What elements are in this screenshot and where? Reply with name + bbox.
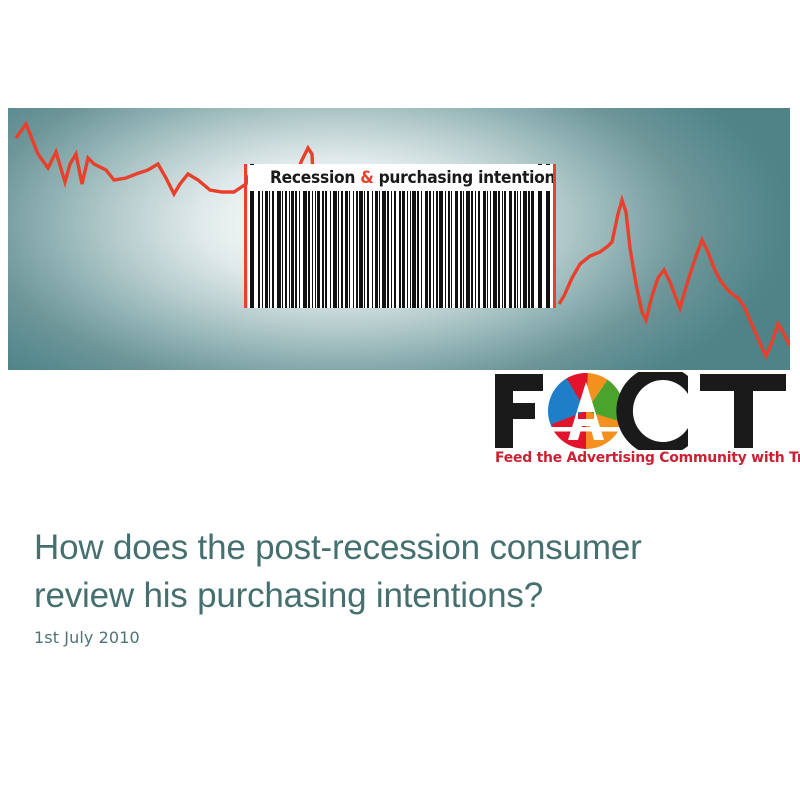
barcode-bar <box>471 191 473 308</box>
barcode-bar <box>356 191 358 308</box>
barcode-graphic: Recession & purchasing intention <box>244 164 556 308</box>
barcode-bar <box>372 191 373 308</box>
barcode-bar <box>353 191 354 308</box>
chart-line-right <box>559 200 790 356</box>
barcode-bar <box>315 191 316 308</box>
barcode-bar <box>364 191 365 308</box>
barcode-bar <box>359 191 363 308</box>
barcode-bar <box>402 191 405 308</box>
barcode-bar <box>490 191 491 308</box>
barcode-bar <box>514 191 516 308</box>
barcode-bar <box>463 191 464 308</box>
barcode-bar <box>289 191 290 308</box>
barcode-bar <box>325 191 327 308</box>
barcode-bar <box>262 191 263 308</box>
barcode-red-edge-left <box>244 164 247 308</box>
barcode-bar <box>502 191 503 308</box>
barcode-title-ampersand: & <box>360 168 373 187</box>
barcode-bar <box>487 191 488 308</box>
barcode-bar <box>382 191 386 308</box>
barcode-bar <box>439 191 443 308</box>
barcode-title-strip: Recession & purchasing intention <box>248 165 553 191</box>
barcode-bar <box>498 191 500 308</box>
barcode-bar <box>265 191 268 308</box>
barcode-bar <box>367 191 369 308</box>
barcode-bar <box>523 191 527 308</box>
barcode-bar <box>504 191 506 308</box>
barcode-bar <box>387 191 389 308</box>
barcode-bars <box>258 191 536 308</box>
barcode-bar <box>448 191 450 308</box>
barcode-bar <box>509 191 512 308</box>
barcode-title-part2: purchasing intention <box>373 168 553 187</box>
barcode-bar <box>391 191 392 308</box>
barcode-bar <box>460 191 462 308</box>
barcode-bar <box>455 191 458 308</box>
logo-letter-f <box>495 374 543 448</box>
barcode-red-edge-right <box>553 164 556 308</box>
barcode-bar <box>330 191 331 308</box>
logo-letter-a-disc <box>548 372 626 450</box>
barcode-bar <box>436 191 438 308</box>
barcode-bar <box>475 191 476 308</box>
barcode-bar <box>429 191 431 308</box>
barcode-bar <box>341 191 343 308</box>
barcode-bar <box>299 191 300 308</box>
fact-logo-mark <box>492 372 790 450</box>
barcode-bar <box>493 191 497 308</box>
barcode-bar <box>421 191 422 308</box>
barcode-bar <box>410 191 411 308</box>
barcode-bar <box>322 191 324 308</box>
barcode-bar <box>308 191 310 308</box>
barcode-bar <box>407 191 408 308</box>
barcode-bar <box>517 191 518 308</box>
barcode-bar <box>483 191 486 308</box>
logo-letter-c <box>616 372 688 450</box>
fact-logo-tagline: Feed the Advertising Community with Tren… <box>495 450 786 466</box>
page-title: How does the post-recession consumer rev… <box>34 524 750 620</box>
barcode-bar <box>445 191 446 308</box>
barcode-bar <box>295 191 297 308</box>
barcode-bar <box>466 191 470 308</box>
barcode-bar <box>528 191 530 308</box>
barcode-bar <box>291 191 294 308</box>
barcode-bar <box>394 191 396 308</box>
fact-logo: Feed the Advertising Community with Tren… <box>492 372 790 476</box>
barcode-bar <box>285 191 287 308</box>
barcode-title-part1: Recession <box>270 168 360 187</box>
barcode-bar <box>412 191 416 308</box>
barcode-bar <box>520 191 521 308</box>
barcode-bar <box>451 191 452 308</box>
barcode-bar <box>269 191 270 308</box>
barcode-bar <box>433 191 434 308</box>
barcode-bar <box>531 191 534 308</box>
barcode-bar <box>345 191 348 308</box>
barcode-bar <box>375 191 378 308</box>
barcode-bar <box>417 191 419 308</box>
barcode-bar <box>277 191 281 308</box>
barcode-bar <box>282 191 283 308</box>
barcode-bar <box>258 191 260 308</box>
logo-letter-t <box>700 374 786 448</box>
barcode-bar <box>379 191 380 308</box>
barcode-bar <box>349 191 350 308</box>
barcode-bar <box>312 191 313 308</box>
barcode-bar <box>303 191 307 308</box>
barcode-bar <box>338 191 339 308</box>
barcode-bar <box>333 191 337 308</box>
barcode-bar <box>425 191 428 308</box>
barcode-title-text: Recession & purchasing intention <box>270 168 553 187</box>
barcode-bar <box>478 191 480 308</box>
barcode-bar <box>272 191 274 308</box>
hero-banner: Recession & purchasing intention <box>8 108 790 370</box>
page-date: 1st July 2010 <box>34 628 140 647</box>
barcode-bar <box>317 191 320 308</box>
barcode-bar <box>399 191 401 308</box>
